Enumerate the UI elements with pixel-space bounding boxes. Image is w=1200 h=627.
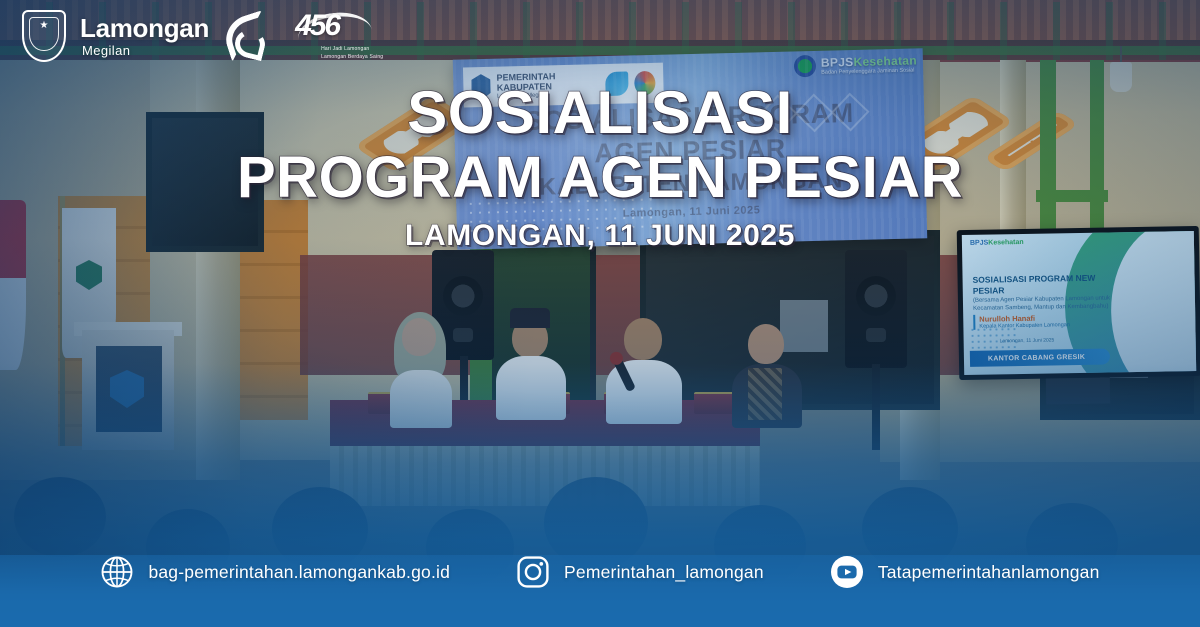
youtube-icon	[830, 555, 864, 589]
poster-title-block: SOSIALISASI PROGRAM AGEN PESIAR LAMONGAN…	[0, 84, 1200, 253]
instagram-icon	[516, 555, 550, 589]
anniversary-line-2: Lamongan Berdaya Saing	[321, 54, 383, 60]
brand-header: ★ Lamongan Megilan 456 Hari Jadi Lamonga…	[0, 0, 1200, 72]
footer-instagram-label: Pemerintahan_lamongan	[564, 562, 764, 583]
anniversary-mark-icon: 456 Hari Jadi Lamongan Lamongan Berdaya …	[293, 9, 379, 63]
title-date-line: LAMONGAN, 11 JUNI 2025	[0, 219, 1200, 253]
footer-website-label: bag-pemerintahan.lamongankab.go.id	[148, 562, 450, 583]
wordmark-main: Lamongan	[80, 13, 209, 43]
footer-item-youtube[interactable]: Tatapemerintahanlamongan	[830, 555, 1100, 589]
footer-youtube-label: Tatapemerintahanlamongan	[878, 562, 1100, 583]
globe-icon	[100, 555, 134, 589]
footer-item-instagram[interactable]: Pemerintahan_lamongan	[516, 555, 764, 589]
footer-item-website[interactable]: bag-pemerintahan.lamongankab.go.id	[100, 555, 450, 589]
wordmark-sub: Megilan	[82, 44, 209, 57]
title-line-1: SOSIALISASI	[0, 84, 1200, 142]
title-line-2: PROGRAM AGEN PESIAR	[0, 150, 1200, 206]
lamongan-regency-crest-icon: ★	[22, 10, 66, 62]
event-poster: PEMERINTAH KABUPATEN Lamongan Megilan BP…	[0, 0, 1200, 627]
anniversary-number: 456	[295, 9, 339, 43]
lamongan-dolphin-mark-icon	[219, 10, 279, 62]
anniversary-line-1: Hari Jadi Lamongan	[321, 46, 369, 52]
crest-star-icon: ★	[40, 21, 49, 31]
social-footer: bag-pemerintahan.lamongankab.go.id Pemer…	[0, 517, 1200, 627]
lamongan-wordmark: Lamongan Megilan	[80, 15, 209, 57]
